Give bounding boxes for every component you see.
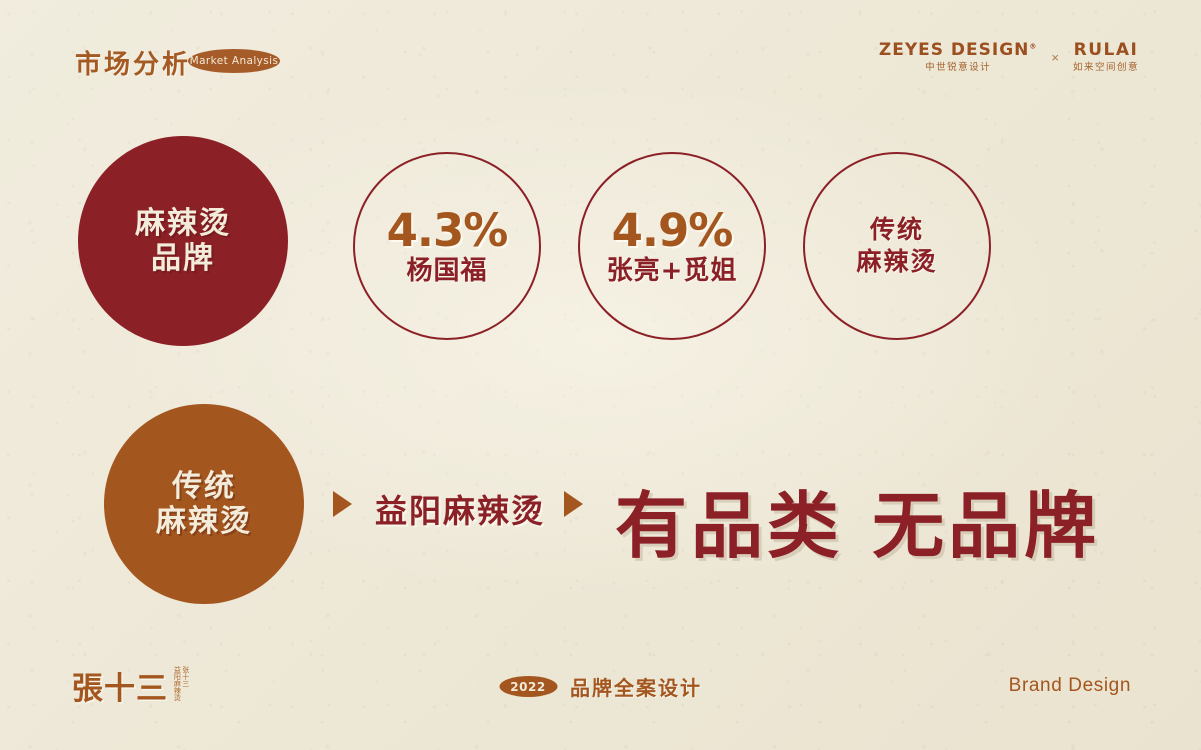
circle-traditional-top-line2: 麻辣烫 — [856, 246, 937, 279]
footer-logo: 張十三 益阳麻辣烫 张十三 — [72, 666, 189, 705]
footer-logo-side-2: 张十三 — [181, 666, 188, 701]
stat-value-zhangliang-mijie: 4.9% — [612, 207, 733, 254]
logo-zeyes-text: ZEYES DESIGN — [879, 40, 1030, 60]
footer-logo-side-1: 益阳麻辣烫 — [173, 666, 180, 701]
logo-rulai-main: RULAI — [1074, 42, 1139, 59]
slogan-text: 有品类 无品牌 — [615, 467, 1100, 572]
circle-brand-anchor-line2: 品牌 — [151, 241, 215, 276]
footer-logo-text: 張十三 — [72, 674, 168, 705]
logo-zeyes-design: ZEYES DESIGN® 中世锐意设计 — [879, 42, 1038, 73]
logo-separator-x: × — [1051, 50, 1059, 65]
circle-brand-anchor: 麻辣烫 品牌 — [78, 136, 288, 346]
arrow-right-icon-2 — [564, 491, 583, 517]
circle-traditional-top-line1: 传统 — [870, 214, 924, 247]
stat-name-zhangliang-mijie: 张亮+觅姐 — [607, 257, 738, 286]
circle-traditional-anchor-line2: 麻辣烫 — [156, 504, 252, 539]
circle-traditional-top: 传统 麻辣烫 — [803, 152, 991, 340]
registered-trademark-icon: ® — [1029, 42, 1037, 50]
page-title-badge: Market Analysis — [188, 49, 280, 73]
footer-year-badge: 2022 — [499, 676, 557, 697]
logo-rulai: RULAI 如来空间创意 — [1073, 42, 1139, 73]
arrow-right-icon-1 — [333, 491, 352, 517]
slide-canvas: 市场分析 Market Analysis ZEYES DESIGN® 中世锐意设… — [0, 0, 1201, 750]
stat-name-yangguofu: 杨国福 — [406, 257, 487, 286]
footer-center: 2022 品牌全案设计 — [499, 672, 702, 701]
circle-traditional-anchor: 传统 麻辣烫 — [104, 404, 304, 604]
circle-stat-zhangliang-mijie: 4.9% 张亮+觅姐 — [578, 152, 766, 340]
circle-brand-anchor-line1: 麻辣烫 — [135, 206, 231, 241]
stat-value-yangguofu: 4.3% — [387, 207, 508, 254]
footer-center-label: 品牌全案设计 — [570, 672, 702, 701]
page-title: 市场分析 — [75, 44, 191, 81]
circle-traditional-anchor-line1: 传统 — [172, 469, 236, 504]
logo-zeyes-sub: 中世锐意设计 — [925, 63, 991, 73]
logo-rulai-sub: 如来空间创意 — [1073, 63, 1139, 73]
brand-logo-lockup: ZEYES DESIGN® 中世锐意设计 × RULAI 如来空间创意 — [879, 42, 1139, 73]
footer-right-label: Brand Design — [1009, 675, 1131, 697]
logo-zeyes-main: ZEYES DESIGN® — [879, 42, 1038, 59]
circle-stat-yangguofu: 4.3% 杨国福 — [353, 152, 541, 340]
footer-logo-side-text: 益阳麻辣烫 张十三 — [173, 666, 189, 705]
middle-label-yiyang: 益阳麻辣烫 — [375, 486, 545, 532]
